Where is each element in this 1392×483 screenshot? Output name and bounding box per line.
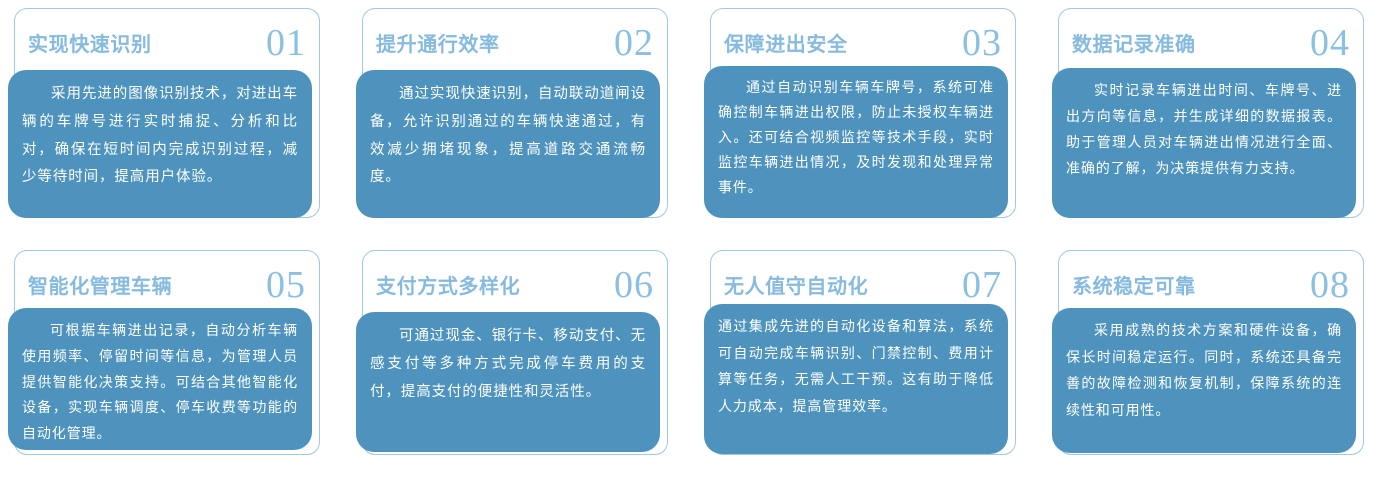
card-body-text: 可根据车辆进出记录，自动分析车辆使用频率、停留时间等信息，为管理人员提供智能化决… (8, 308, 312, 450)
card-body-text: 可通过现金、银行卡、移动支付、无感支付等多种方式完成停车费用的支付，提高支付的便… (356, 312, 660, 452)
feature-card-04[interactable]: 数据记录准确 04 实时记录车辆进出时间、车牌号、进出方向等信息，并生成详细的数… (1044, 0, 1392, 240)
feature-cards-grid: 实现快速识别 01 采用先进的图像识别技术，对进出车辆的车牌号进行实时捕捉、分析… (0, 0, 1392, 483)
feature-card-07[interactable]: 无人值守自动化 07 通过集成先进的自动化设备和算法，系统可自动完成车辆识别、门… (696, 240, 1044, 483)
feature-card-03[interactable]: 保障进出安全 03 通过自动识别车辆车牌号，系统可准确控制车辆进出权限，防止未授… (696, 0, 1044, 240)
feature-cards-board: 实现快速识别 01 采用先进的图像识别技术，对进出车辆的车牌号进行实时捕捉、分析… (0, 0, 1392, 483)
card-body-text: 通过自动识别车辆车牌号，系统可准确控制车辆进出权限，防止未授权车辆进入。还可结合… (704, 66, 1008, 218)
feature-card-05[interactable]: 智能化管理车辆 05 可根据车辆进出记录，自动分析车辆使用频率、停留时间等信息，… (0, 240, 348, 483)
card-body-text: 通过实现快速识别，自动联动道闸设备，允许识别通过的车辆快速通过，有效减少拥堵现象… (356, 70, 660, 218)
card-body-text: 实时记录车辆进出时间、车牌号、进出方向等信息，并生成详细的数据报表。助于管理人员… (1052, 68, 1356, 218)
card-body-text: 通过集成先进的自动化设备和算法，系统可自动完成车辆识别、门禁控制、费用计算等任务… (704, 304, 1008, 454)
card-body-text: 采用成熟的技术方案和硬件设备，确保长时间稳定运行。同时，系统还具备完善的故障检测… (1052, 308, 1356, 453)
feature-card-01[interactable]: 实现快速识别 01 采用先进的图像识别技术，对进出车辆的车牌号进行实时捕捉、分析… (0, 0, 348, 240)
card-body-text: 采用先进的图像识别技术，对进出车辆的车牌号进行实时捕捉、分析和比对，确保在短时间… (8, 70, 312, 218)
feature-card-08[interactable]: 系统稳定可靠 08 采用成熟的技术方案和硬件设备，确保长时间稳定运行。同时，系统… (1044, 240, 1392, 483)
feature-card-06[interactable]: 支付方式多样化 06 可通过现金、银行卡、移动支付、无感支付等多种方式完成停车费… (348, 240, 696, 483)
feature-card-02[interactable]: 提升通行效率 02 通过实现快速识别，自动联动道闸设备，允许识别通过的车辆快速通… (348, 0, 696, 240)
